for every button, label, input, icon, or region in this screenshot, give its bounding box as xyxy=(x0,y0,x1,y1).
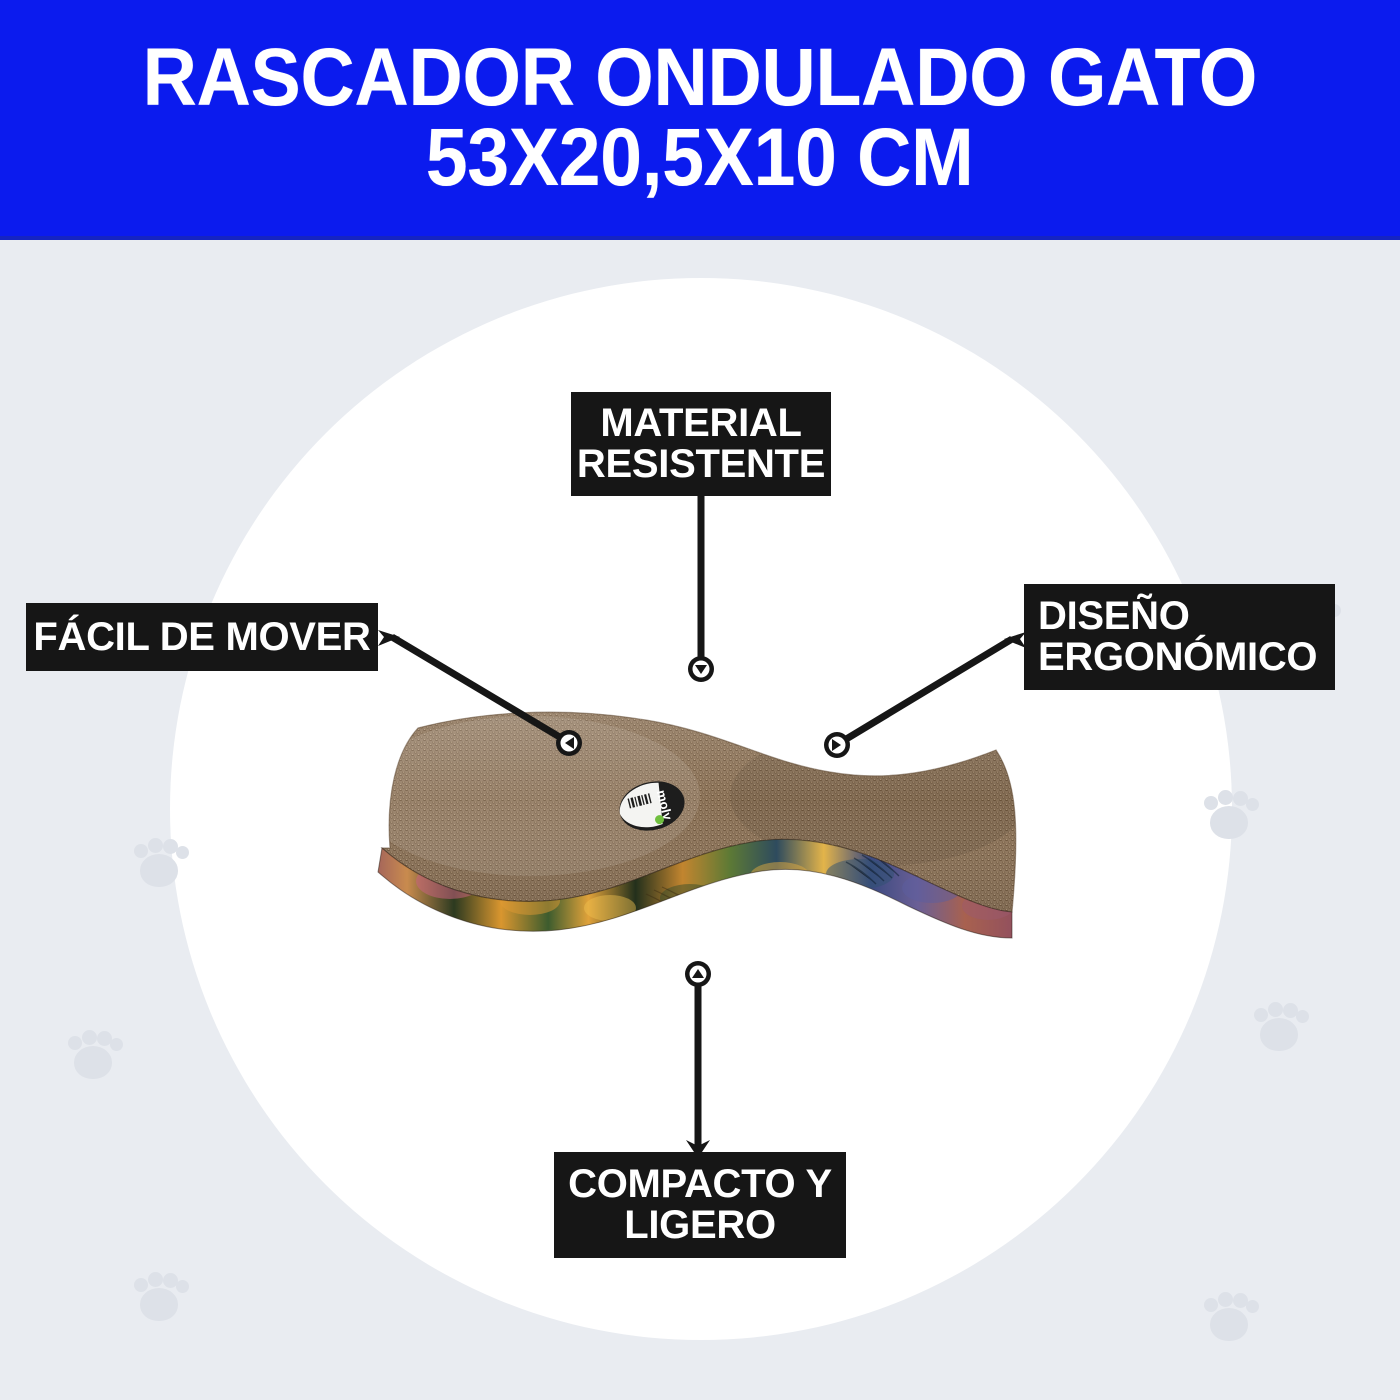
callout-compacto-line1: COMPACTO Y xyxy=(568,1164,832,1205)
paw-print-watermark-icon xyxy=(62,1020,124,1082)
paw-print-watermark-icon xyxy=(1198,780,1260,842)
callout-label-material-resistente[interactable]: MATERIAL RESISTENTE xyxy=(571,392,831,496)
paw-print-watermark-icon xyxy=(128,828,190,890)
callout-diseno-line2: ERGONÓMICO xyxy=(1038,637,1317,678)
callout-material-line1: MATERIAL xyxy=(600,403,801,444)
callout-compacto-line2: LIGERO xyxy=(624,1205,776,1246)
product-image: moly xyxy=(360,676,1032,952)
callout-facil-line1: FÁCIL DE MOVER xyxy=(33,617,370,658)
callout-diseno-line1: DISEÑO xyxy=(1038,596,1190,637)
infographic-page: RASCADOR ONDULADO GATO 53X20,5X10 CM xyxy=(0,0,1400,1400)
header-title-line1: RASCADOR ONDULADO GATO xyxy=(143,38,1257,118)
callout-material-line2: RESISTENTE xyxy=(577,444,825,485)
callout-label-compacto-y-ligero[interactable]: COMPACTO Y LIGERO xyxy=(554,1152,846,1258)
paw-print-watermark-icon xyxy=(1248,992,1310,1054)
header-banner: RASCADOR ONDULADO GATO 53X20,5X10 CM xyxy=(0,0,1400,240)
header-title-line2: 53X20,5X10 CM xyxy=(426,118,974,198)
callout-label-facil-de-mover[interactable]: FÁCIL DE MOVER xyxy=(26,603,378,671)
callout-label-diseno-ergonomico[interactable]: DISEÑO ERGONÓMICO xyxy=(1024,584,1335,690)
paw-print-watermark-icon xyxy=(128,1262,190,1324)
paw-print-watermark-icon xyxy=(1198,1282,1260,1344)
